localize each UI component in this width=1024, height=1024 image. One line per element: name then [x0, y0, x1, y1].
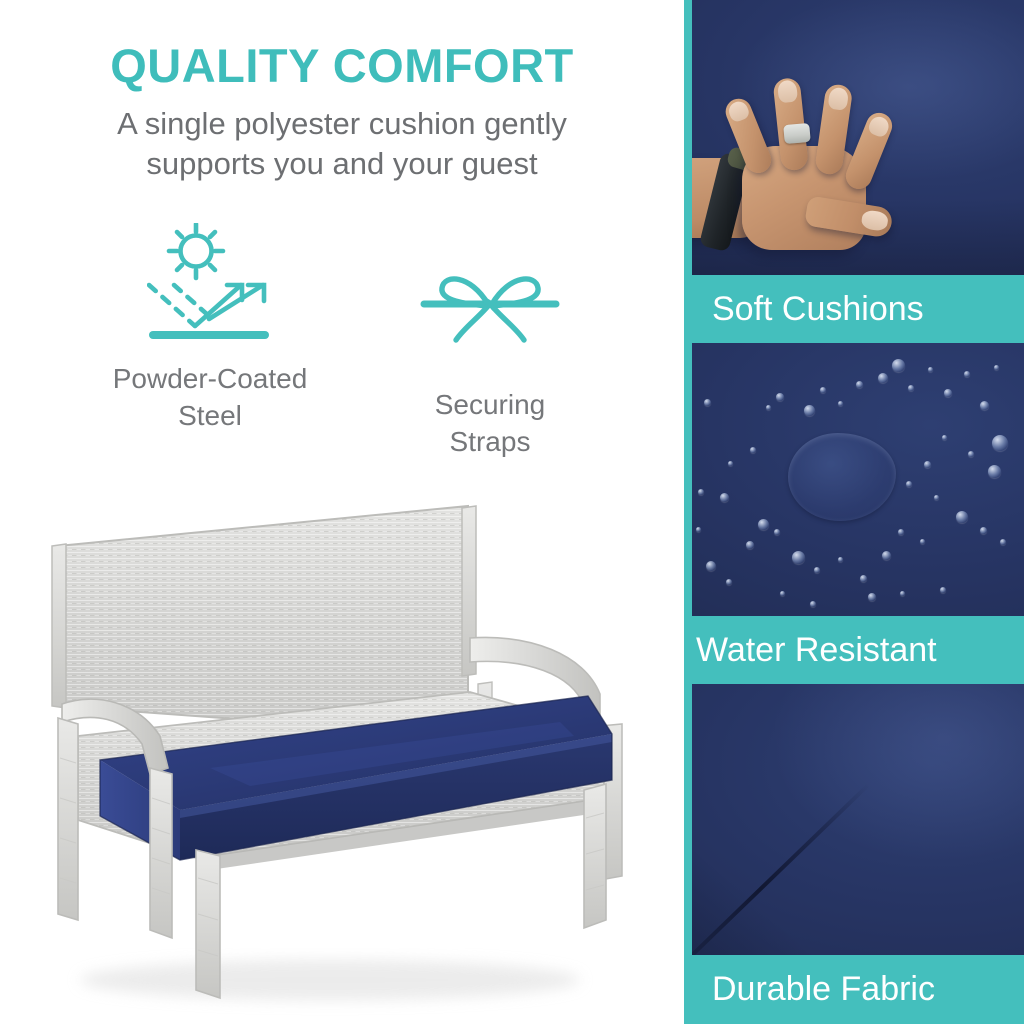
subtitle-line-2: supports you and your guest	[62, 144, 622, 184]
subtitle: A single polyester cushion gently suppor…	[62, 104, 622, 184]
left-content-column: QUALITY COMFORT A single polyester cushi…	[0, 0, 684, 1024]
panel-soft-cushions	[692, 0, 1024, 275]
ribbon-bow-icon	[420, 215, 560, 368]
panel-water-resistant	[692, 343, 1024, 616]
feature-label: Securing Straps	[435, 386, 546, 460]
feature-label-line-1: Securing	[435, 386, 546, 423]
hand-graphic	[692, 80, 941, 255]
hand-pressing-cushion-photo	[692, 0, 1024, 275]
feature-label-line-2: Straps	[435, 423, 546, 460]
feature-label-line-1: Powder-Coated	[113, 360, 308, 397]
caption-text: Durable Fabric	[684, 970, 1024, 1009]
caption-text: Water Resistant	[684, 631, 1024, 670]
feature-label-line-2: Steel	[113, 397, 308, 434]
page-title: QUALITY COMFORT	[0, 38, 684, 93]
hero-product-image	[0, 468, 684, 1024]
water-droplets	[692, 343, 1024, 616]
panel-durable-fabric	[692, 684, 1024, 955]
subtitle-line-1: A single polyester cushion gently	[62, 104, 622, 144]
feature-icon-list: Powder-Coated Steel	[40, 215, 660, 455]
feature-securing-straps: Securing Straps	[350, 215, 630, 460]
panel-caption-water-resistant: Water Resistant	[684, 616, 1024, 684]
wicker-bench-illustration	[0, 468, 684, 1024]
navy-fabric-photo	[692, 684, 1024, 955]
sun-reflect-icon	[147, 215, 273, 344]
feature-label: Powder-Coated Steel	[113, 360, 308, 434]
water-droplets-photo	[692, 343, 1024, 616]
feature-powder-coated-steel: Powder-Coated Steel	[70, 215, 350, 434]
panel-caption-durable-fabric: Durable Fabric	[684, 955, 1024, 1024]
caption-text: Soft Cushions	[684, 290, 1024, 329]
product-feature-graphic: QUALITY COMFORT A single polyester cushi…	[0, 0, 1024, 1024]
panel-caption-soft-cushions: Soft Cushions	[684, 275, 1024, 343]
feature-panel-column: Soft Cushions	[684, 0, 1024, 1024]
